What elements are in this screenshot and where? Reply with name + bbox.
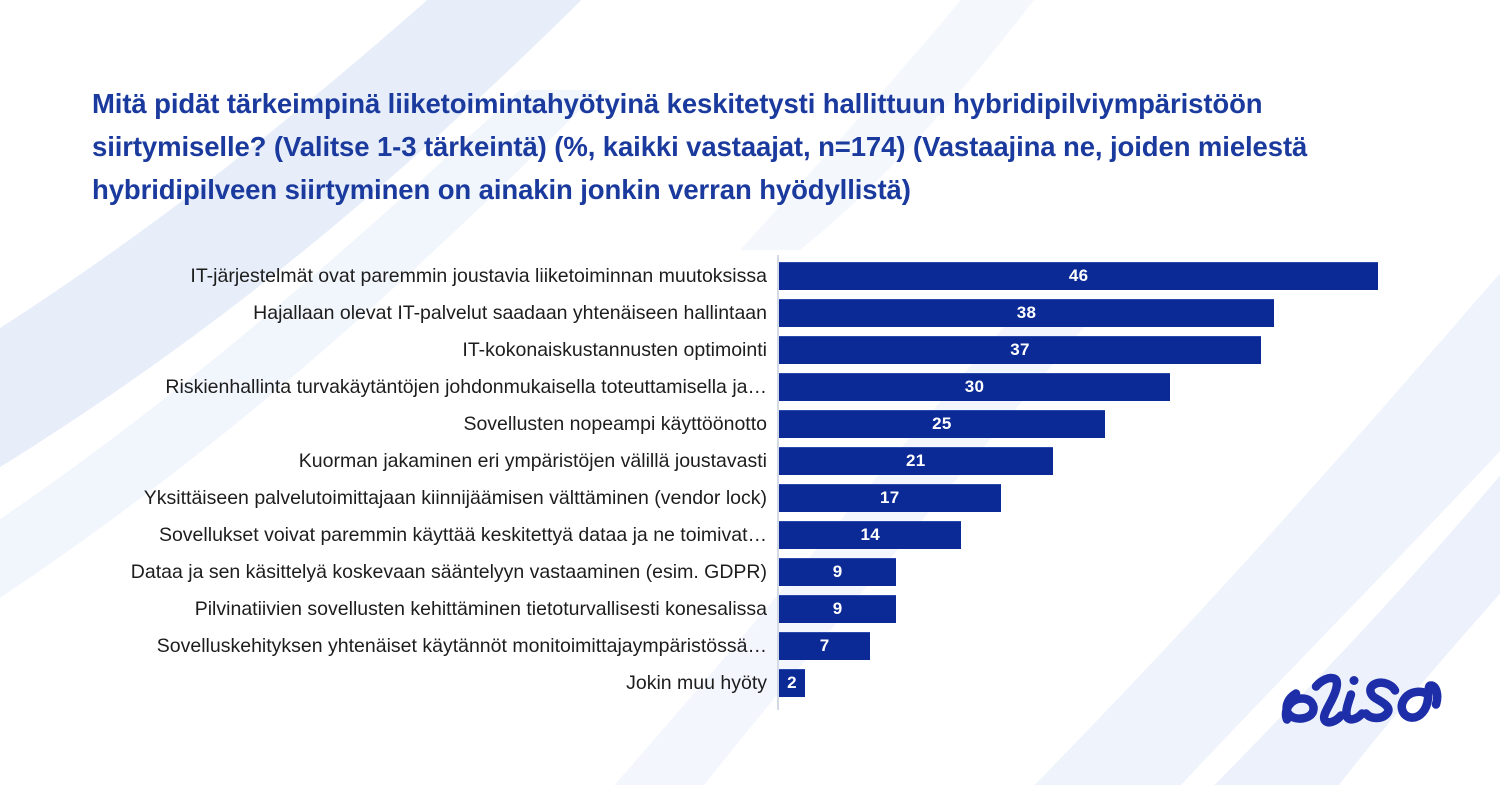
chart-row: Pilvinatiivien sovellusten kehittäminen … xyxy=(0,595,1500,623)
page-title: Mitä pidät tärkeimpinä liiketoimintahyöt… xyxy=(92,82,1432,211)
bar-value-label: 14 xyxy=(779,521,961,549)
category-label: IT-järjestelmät ovat paremmin joustavia … xyxy=(190,262,767,290)
bar-value-label: 9 xyxy=(779,558,896,586)
category-label: Dataa ja sen käsittelyä koskevaan säänte… xyxy=(131,558,767,586)
chart-row: Sovellukset voivat paremmin käyttää kesk… xyxy=(0,521,1500,549)
slide-canvas: Mitä pidät tärkeimpinä liiketoimintahyöt… xyxy=(0,0,1500,785)
chart-row: IT-kokonaiskustannusten optimointi37 xyxy=(0,336,1500,364)
category-label: IT-kokonaiskustannusten optimointi xyxy=(462,336,767,364)
chart-row: Dataa ja sen käsittelyä koskevaan säänte… xyxy=(0,558,1500,586)
category-label: Sovelluskehityksen yhtenäiset käytännöt … xyxy=(157,632,767,660)
bar-value-label: 2 xyxy=(779,669,805,697)
bar-value-label: 46 xyxy=(779,262,1378,290)
category-label: Kuorman jakaminen eri ympäristöjen välil… xyxy=(299,447,767,475)
category-label: Riskienhallinta turvakäytäntöjen johdonm… xyxy=(165,373,767,401)
bar-value-label: 9 xyxy=(779,595,896,623)
bar-value-label: 38 xyxy=(779,299,1274,327)
chart-row: Kuorman jakaminen eri ympäristöjen välil… xyxy=(0,447,1500,475)
bar-value-label: 7 xyxy=(779,632,870,660)
chart-row: Jokin muu hyöty2 xyxy=(0,669,1500,697)
chart-row: Yksittäiseen palvelutoimittajaan kiinnij… xyxy=(0,484,1500,512)
chart-row: Sovellusten nopeampi käyttöönotto25 xyxy=(0,410,1500,438)
category-label: Sovellukset voivat paremmin käyttää kesk… xyxy=(159,521,767,549)
bar-value-label: 21 xyxy=(779,447,1053,475)
bar-value-label: 30 xyxy=(779,373,1170,401)
bar-value-label: 25 xyxy=(779,410,1105,438)
chart-row: Sovelluskehityksen yhtenäiset käytännöt … xyxy=(0,632,1500,660)
category-label: Pilvinatiivien sovellusten kehittäminen … xyxy=(195,595,767,623)
bar-value-label: 17 xyxy=(779,484,1001,512)
elisa-logo xyxy=(1278,663,1448,749)
category-label: Jokin muu hyöty xyxy=(626,669,767,697)
category-label: Yksittäiseen palvelutoimittajaan kiinnij… xyxy=(144,484,767,512)
chart-row: Hajallaan olevat IT-palvelut saadaan yht… xyxy=(0,299,1500,327)
chart-row: Riskienhallinta turvakäytäntöjen johdonm… xyxy=(0,373,1500,401)
horizontal-bar-chart: IT-järjestelmät ovat paremmin joustavia … xyxy=(0,255,1500,715)
chart-row: IT-järjestelmät ovat paremmin joustavia … xyxy=(0,262,1500,290)
category-label: Sovellusten nopeampi käyttöönotto xyxy=(463,410,767,438)
category-label: Hajallaan olevat IT-palvelut saadaan yht… xyxy=(253,299,767,327)
bar-value-label: 37 xyxy=(779,336,1261,364)
